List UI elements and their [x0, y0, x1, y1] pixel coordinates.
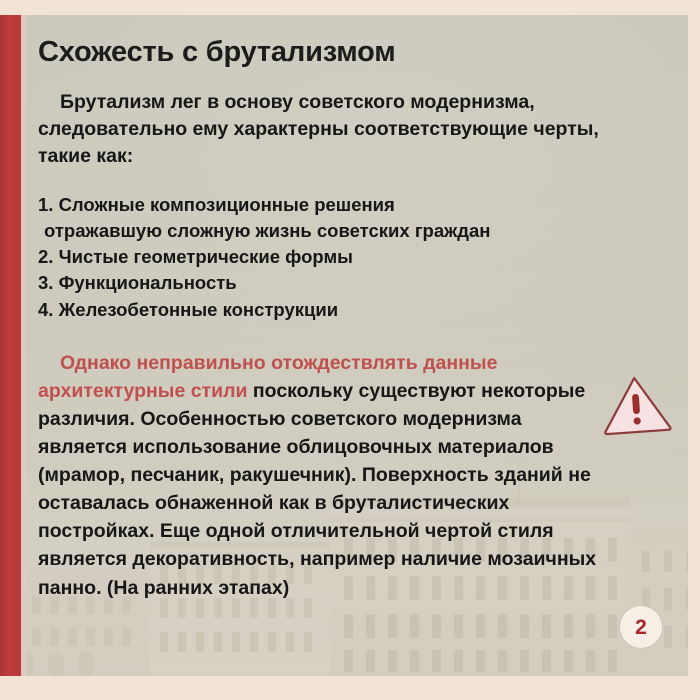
- page-number-value: 2: [635, 617, 647, 638]
- slide-content: Схожесть с брутализмом Брутализм лег в о…: [38, 37, 658, 602]
- list-item: 4. Железобетонные конструкции: [38, 297, 658, 323]
- list-item: 1. Сложные композиционные решения: [38, 192, 658, 218]
- feature-list: 1. Сложные композиционные решения отража…: [38, 192, 658, 323]
- slide-root: Схожесть с брутализмом Брутализм лег в о…: [0, 0, 700, 700]
- page-title: Схожесть с брутализмом: [38, 37, 658, 69]
- list-item: отражавшую сложную жизнь советских гражд…: [38, 218, 658, 244]
- note-paragraph: Однако неправильно отождествлять данные …: [38, 349, 613, 602]
- warning-triangle-icon: [598, 371, 674, 438]
- bottom-margin-band: [0, 676, 700, 700]
- right-margin-band: [688, 0, 700, 700]
- list-item: 3. Функциональность: [38, 270, 658, 296]
- slide-canvas: Схожесть с брутализмом Брутализм лег в о…: [0, 15, 688, 676]
- left-accent-stripe: [0, 15, 21, 676]
- list-item: 2. Чистые геометрические формы: [38, 244, 658, 270]
- page-number-badge: 2: [620, 606, 662, 648]
- intro-paragraph: Брутализм лег в основу советского модерн…: [38, 89, 618, 170]
- note-rest-text: поскольку существуют некоторые различия.…: [38, 380, 596, 599]
- top-margin-band: [21, 0, 700, 15]
- intro-paragraph-text: Брутализм лег в основу советского модерн…: [38, 91, 599, 167]
- left-accent-stripe-edge: [21, 15, 26, 676]
